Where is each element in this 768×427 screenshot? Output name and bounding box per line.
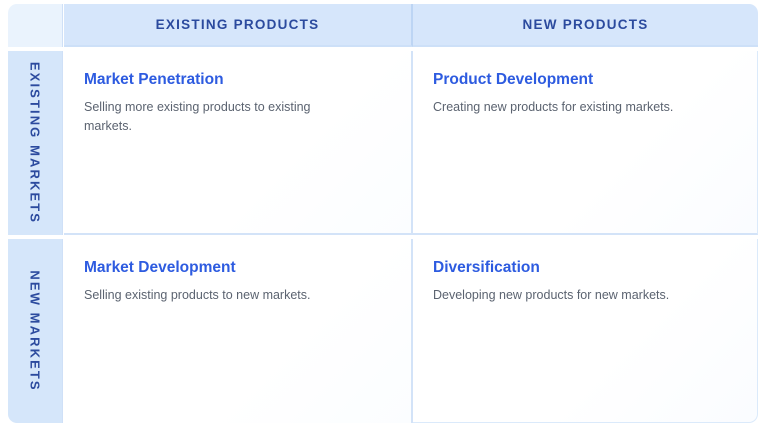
- quadrant-market-penetration[interactable]: Market Penetration Selling more existing…: [64, 51, 413, 235]
- column-header-existing-products: EXISTING PRODUCTS: [64, 4, 413, 47]
- quadrant-product-development-description: Creating new products for existing marke…: [433, 98, 733, 117]
- quadrant-market-development-description: Selling existing products to new markets…: [84, 286, 354, 305]
- quadrant-market-development-title: Market Development: [84, 259, 389, 277]
- quadrant-diversification[interactable]: Diversification Developing new products …: [413, 239, 758, 423]
- column-header-new-products: NEW PRODUCTS: [413, 4, 758, 47]
- row-header-new-markets: NEW MARKETS: [8, 239, 63, 423]
- row-header-existing-markets: EXISTING MARKETS: [8, 51, 63, 235]
- column-header-existing-products-label: EXISTING PRODUCTS: [156, 17, 320, 32]
- quadrant-market-development[interactable]: Market Development Selling existing prod…: [64, 239, 413, 423]
- row-header-new-markets-label: NEW MARKETS: [28, 270, 43, 391]
- quadrant-diversification-title: Diversification: [433, 259, 735, 277]
- quadrant-market-penetration-description: Selling more existing products to existi…: [84, 98, 354, 137]
- quadrant-product-development-title: Product Development: [433, 71, 735, 89]
- quadrant-product-development[interactable]: Product Development Creating new product…: [413, 51, 758, 235]
- quadrant-market-penetration-title: Market Penetration: [84, 71, 389, 89]
- ansoff-matrix: EXISTING PRODUCTS NEW PRODUCTS EXISTING …: [0, 0, 768, 427]
- quadrant-diversification-description: Developing new products for new markets.: [433, 286, 733, 305]
- matrix-header-row: EXISTING PRODUCTS NEW PRODUCTS: [0, 0, 768, 47]
- row-header-existing-markets-label: EXISTING MARKETS: [28, 62, 43, 224]
- matrix-corner-cell: [8, 4, 63, 47]
- column-header-new-products-label: NEW PRODUCTS: [523, 17, 649, 32]
